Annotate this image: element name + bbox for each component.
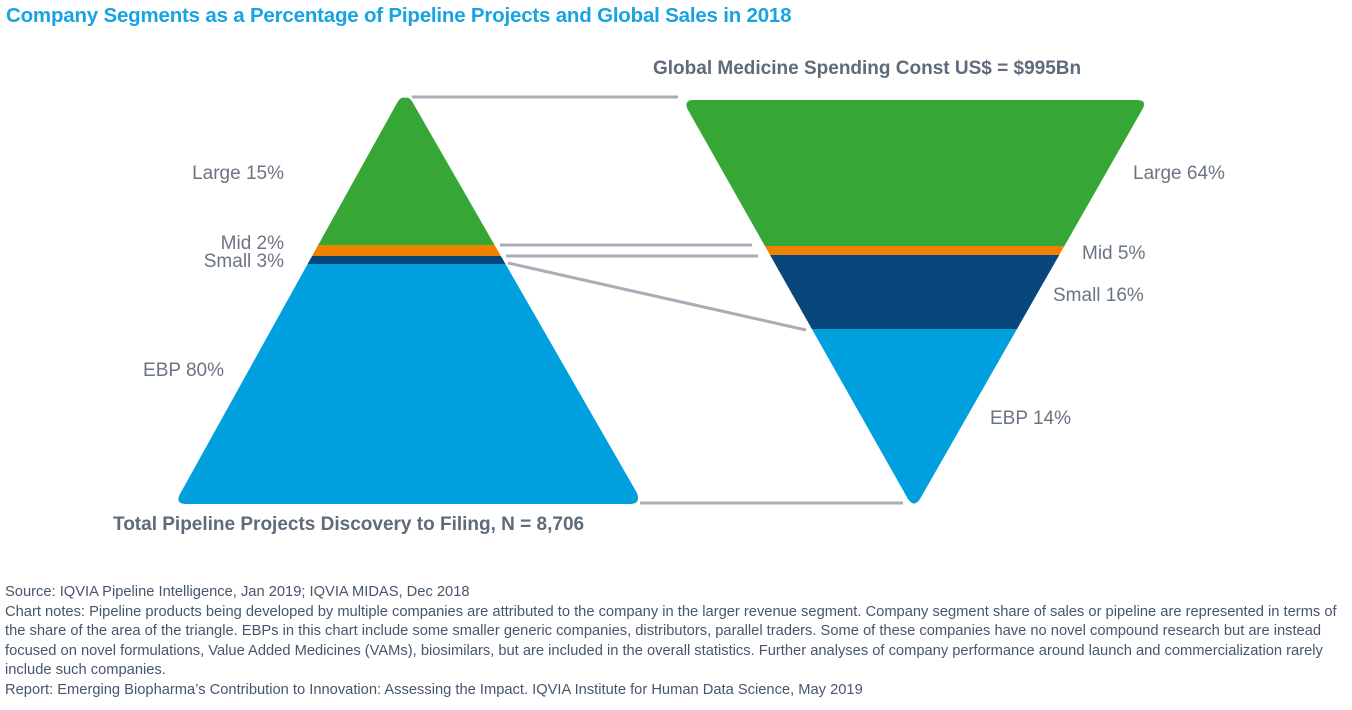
- right-label-ebp: EBP 14%: [990, 408, 1071, 430]
- footnotes: Source: IQVIA Pipeline Intelligence, Jan…: [5, 583, 1349, 701]
- left-label-small: Small 3%: [90, 251, 284, 273]
- right-label-mid: Mid 5%: [1082, 243, 1145, 265]
- left-funnel: [150, 90, 670, 510]
- footnote-source: Source: IQVIA Pipeline Intelligence, Jan…: [5, 583, 1349, 603]
- footnote-chart-notes: Chart notes: Pipeline products being dev…: [5, 603, 1349, 681]
- left-segment-ebp: [150, 264, 670, 510]
- dual-funnel-graphic: [0, 0, 1352, 560]
- right-label-small: Small 16%: [1053, 285, 1144, 307]
- left-label-ebp: EBP 80%: [40, 360, 224, 382]
- footnote-report: Report: Emerging Biopharma’s Contributio…: [5, 681, 1349, 701]
- connector-small: [508, 263, 806, 330]
- left-label-large: Large 15%: [90, 163, 284, 185]
- right-segment-ebp: [660, 329, 1180, 514]
- right-label-large: Large 64%: [1133, 163, 1225, 185]
- right-segment-large: [660, 95, 1180, 246]
- chart-page: Company Segments as a Percentage of Pipe…: [0, 0, 1352, 710]
- left-panel-caption: Total Pipeline Projects Discovery to Fil…: [113, 514, 584, 536]
